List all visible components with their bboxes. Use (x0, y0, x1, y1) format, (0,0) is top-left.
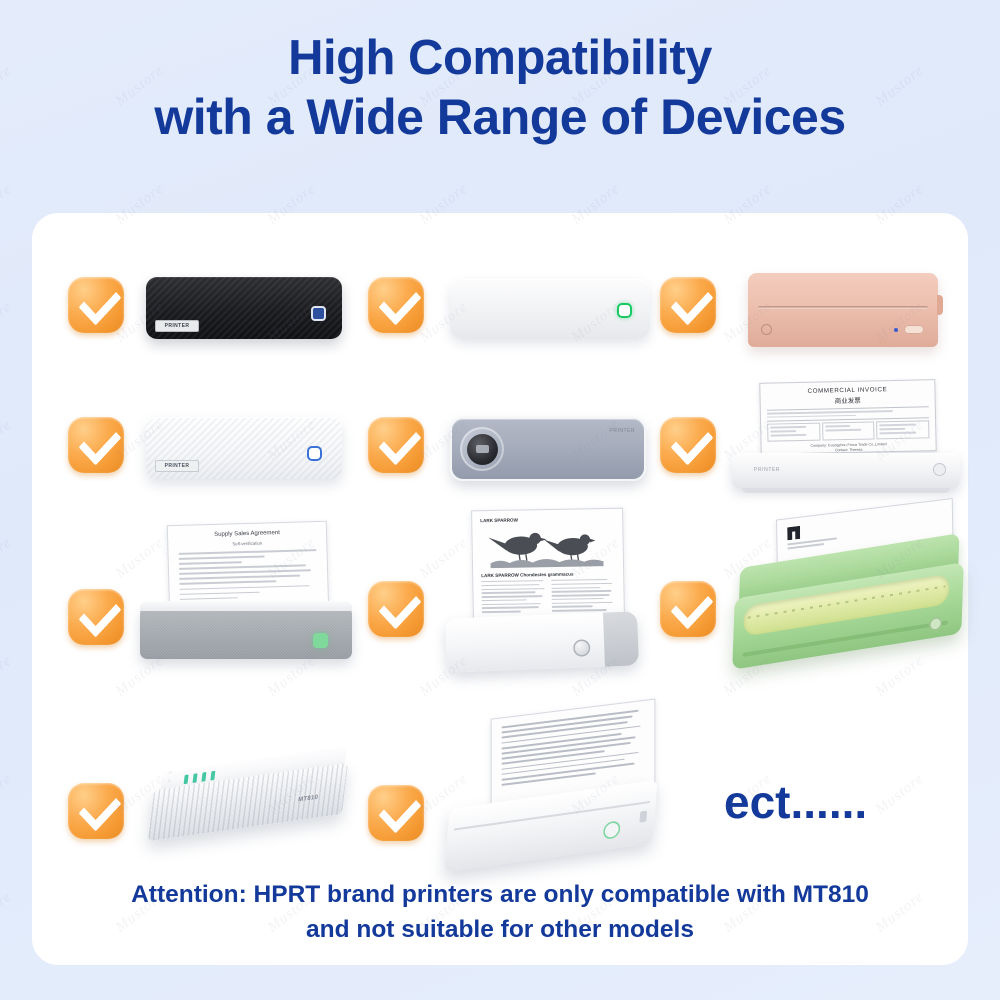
watermark-text: Mustore (0, 534, 16, 582)
watermark-text: Mustore (0, 416, 16, 464)
power-button-icon (603, 820, 621, 840)
orange-check-icon (368, 417, 424, 473)
printer-brand-label: PRINTER (155, 320, 199, 332)
device-green-open-printer (724, 509, 974, 674)
logo-ring-icon (761, 324, 772, 335)
side-tab (937, 295, 943, 315)
paper-slot (758, 306, 928, 309)
attention-line-1: Attention: HPRT brand printers are only … (131, 881, 869, 908)
orange-check-icon (68, 277, 124, 333)
device-white-textured-printer: PRINTER (146, 417, 342, 479)
headline-line-2: with a Wide Range of Devices (0, 88, 1000, 147)
button-pill (904, 325, 924, 334)
printer-body (444, 780, 658, 873)
printer-brand-label: PRINTER (155, 460, 199, 472)
watermark-text: Mustore (0, 298, 16, 346)
watermark-text: Mustore (0, 180, 16, 228)
watermark-text: Mustore (0, 770, 16, 818)
device-white-slab-printer (450, 279, 650, 339)
watermark-text: Mustore (0, 652, 16, 700)
attention-note: Attention: HPRT brand printers are only … (60, 878, 940, 948)
power-button-icon (933, 463, 946, 476)
document-title: Supply Sales Agreement (178, 529, 316, 539)
invoice-subtitle: 商业发票 (767, 393, 929, 406)
green-button-icon (313, 633, 328, 648)
printer-body: PRINTER (146, 277, 342, 339)
printer-seam (454, 801, 650, 830)
product-feature-image: High Compatibility with a Wide Range of … (0, 0, 1000, 1000)
watermark-text: Mustore (0, 888, 16, 936)
document-logo-icon (787, 526, 800, 541)
orange-check-icon (368, 581, 424, 637)
lens-icon (460, 427, 504, 471)
power-button-icon (573, 639, 591, 657)
device-pink-printer (748, 273, 938, 347)
bird-illustration (480, 527, 615, 569)
blue-indicator-icon (307, 446, 322, 461)
status-dot-icon (894, 328, 898, 332)
printer-brand-label: PRINTER (610, 428, 635, 434)
blue-indicator-icon (311, 306, 326, 321)
printer-foot (742, 488, 950, 493)
orange-check-icon (660, 277, 716, 333)
orange-check-icon (68, 589, 124, 645)
document-title: LARK SPARROW Chondestes grammacus (481, 571, 615, 578)
device-chinese-page-printer (446, 709, 666, 859)
printer-body: PRINTER (732, 453, 960, 489)
device-grid-card: PRINTER (32, 213, 968, 965)
orange-check-icon (660, 581, 716, 637)
device-bird-page-printer: LARK SPARROW (446, 509, 646, 669)
green-indicator-icon (617, 303, 632, 318)
printer-body: PRINTER (146, 417, 342, 479)
device-gray-lens-printer: PRINTER (450, 417, 646, 481)
printer-body (140, 607, 352, 659)
document-header: LARK SPARROW (480, 516, 614, 523)
invoice-document: COMMERCIAL INVOICE 商业发票 (759, 379, 936, 455)
power-button-icon (929, 616, 942, 631)
orange-check-icon (368, 785, 424, 841)
attention-line-2: and not suitable for other models (60, 913, 940, 948)
usb-port (639, 810, 647, 822)
document-subtitle: Self-verification (178, 539, 316, 548)
printer-body (450, 279, 650, 339)
printer-brand-label: PRINTER (754, 467, 780, 473)
bird-document: LARK SPARROW (471, 508, 625, 621)
device-black-textured-printer: PRINTER (146, 277, 342, 339)
printer-body (748, 273, 938, 347)
printer-body: PRINTER (450, 417, 646, 481)
printer-end-cap (603, 611, 639, 666)
page-title: High Compatibility with a Wide Range of … (0, 30, 1000, 147)
etc-label: ect...... (724, 775, 867, 829)
sparrow-birds-icon (480, 527, 615, 569)
orange-check-icon (68, 417, 124, 473)
device-invoice-printer: COMMERCIAL INVOICE 商业发票 (732, 381, 962, 489)
invoice-table (767, 421, 929, 442)
orange-check-icon (68, 783, 124, 839)
printer-body (445, 611, 639, 672)
device-gray-felt-printer: Supply Sales Agreement Self-verification (140, 523, 355, 663)
orange-check-icon (368, 277, 424, 333)
headline-line-1: High Compatibility (288, 31, 712, 85)
device-silver-ribbed-printer: ◌◌ MT810 (144, 751, 356, 851)
orange-check-icon (660, 417, 716, 473)
